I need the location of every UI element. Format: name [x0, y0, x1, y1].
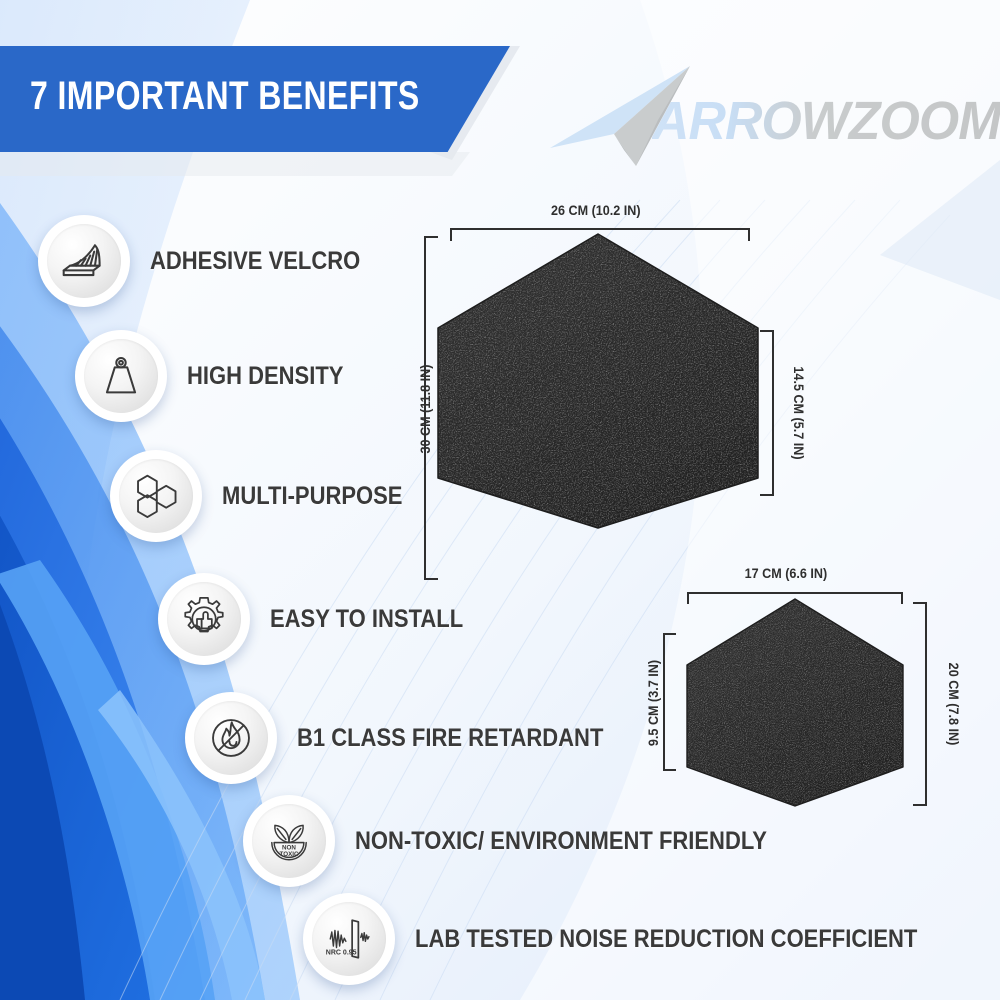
large-hexagon-panel [418, 228, 778, 538]
small-width-tick-left [687, 592, 689, 604]
infographic-canvas: 7 IMPORTANT BENEFITS ARROWZOOM ADHESIVE [0, 0, 1000, 1000]
small-height-label: 20 CM (7.8 IN) [946, 641, 962, 767]
small-height-dim-line [925, 602, 927, 806]
small-side-tick-top [663, 633, 676, 635]
benefit-badge: NRC 0.95 [303, 893, 395, 985]
benefit-label: MULTI-PURPOSE [222, 482, 402, 511]
benefit-badge: NON TOXIC [243, 795, 335, 887]
benefit-row-adhesive-velcro[interactable]: ADHESIVE VELCRO [38, 215, 389, 307]
weight-icon [84, 339, 158, 413]
brand-name: ARROWZOOM [652, 90, 1000, 152]
large-width-tick-right [748, 228, 750, 241]
large-height-tick-bottom [424, 578, 438, 580]
large-height-label: 30 CM (11.8 IN) [417, 346, 433, 472]
nrc-soundwave-icon: NRC 0.95 [312, 902, 386, 976]
gear-thumbs-up-icon [167, 582, 241, 656]
velcro-strip-icon [47, 224, 121, 298]
nrc-value: NRC 0.95 [326, 950, 357, 957]
small-width-label: 17 CM (6.6 IN) [745, 565, 828, 581]
hexagons-icon [119, 459, 193, 533]
small-side-label: 9.5 CM (3.7 IN) [645, 640, 661, 766]
small-height-tick-bottom [913, 804, 927, 806]
benefit-badge [158, 573, 250, 665]
brand-logo: ARROWZOOM [540, 62, 970, 172]
large-height-tick-top [424, 236, 438, 238]
large-width-tick-left [450, 228, 452, 241]
benefit-label: ADHESIVE VELCRO [150, 247, 360, 276]
benefit-label: LAB TESTED NOISE REDUCTION COEFFICIENT [415, 925, 917, 954]
benefit-row-high-density[interactable]: HIGH DENSITY [75, 330, 365, 422]
large-width-label: 26 CM (10.2 IN) [551, 202, 641, 218]
benefit-row-fire-retardant[interactable]: B1 CLASS FIRE RETARDANT [185, 692, 645, 784]
benefit-badge [75, 330, 167, 422]
benefit-badge [185, 692, 277, 784]
benefit-badge [110, 450, 202, 542]
benefit-label: EASY TO INSTALL [270, 605, 463, 634]
small-side-dim-line [663, 633, 665, 771]
page-title: 7 IMPORTANT BENEFITS [30, 74, 420, 119]
benefit-label: B1 CLASS FIRE RETARDANT [297, 724, 603, 753]
benefit-label: HIGH DENSITY [187, 362, 343, 391]
large-side-label: 14.5 CM (5.7 IN) [791, 349, 807, 477]
benefit-row-easy-to-install[interactable]: EASY TO INSTALL [158, 573, 489, 665]
benefit-badge [38, 215, 130, 307]
non-toxic-line2: TOXIC [280, 851, 299, 858]
benefit-row-nrc[interactable]: NRC 0.95 LAB TESTED NOISE REDUCTION COEF… [303, 893, 986, 985]
small-width-tick-right [901, 592, 903, 604]
large-side-tick-top [760, 330, 774, 332]
benefit-label: NON-TOXIC/ ENVIRONMENT FRIENDLY [355, 827, 767, 856]
small-side-tick-bottom [663, 769, 676, 771]
no-fire-icon [194, 701, 268, 775]
small-hexagon-panel [675, 595, 915, 810]
non-toxic-leaf-icon: NON TOXIC [252, 804, 326, 878]
large-width-dim-line [450, 228, 750, 230]
small-width-dim-line [687, 592, 903, 594]
large-side-tick-bottom [760, 494, 774, 496]
large-side-dim-line [772, 330, 774, 496]
benefit-row-multi-purpose[interactable]: MULTI-PURPOSE [110, 450, 427, 542]
small-height-tick-top [913, 602, 927, 604]
